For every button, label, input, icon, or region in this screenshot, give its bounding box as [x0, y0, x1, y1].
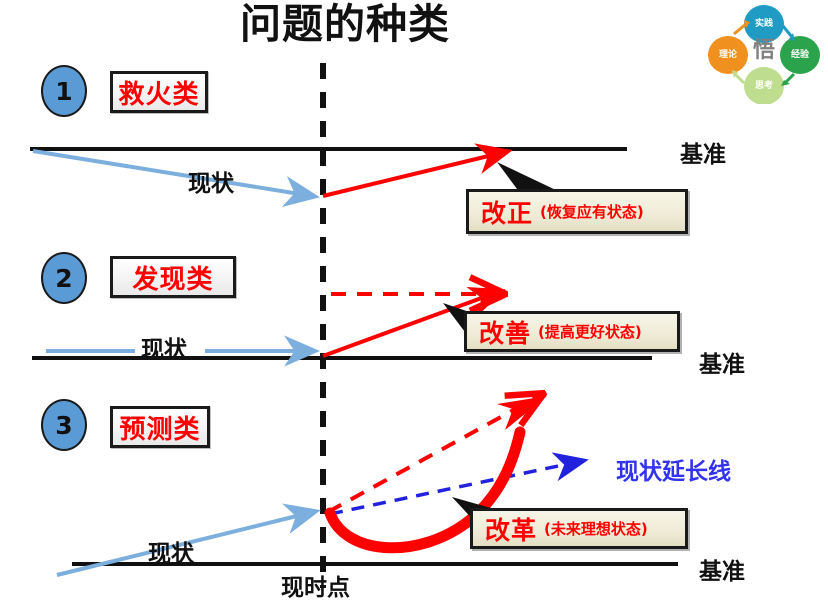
page-title: 问题的种类 — [195, 2, 495, 47]
callout-box-1[interactable]: 改正 (恢复应有状态) — [466, 189, 688, 234]
section1-current-state-label: 现状 — [188, 164, 234, 198]
logo-arc-arrow-top-left — [734, 24, 746, 34]
callout-box-2[interactable]: 改善 (提高更好状态) — [464, 311, 680, 352]
logo-node-right-label: 经验 — [783, 51, 817, 60]
diagram-canvas: 问题的种类 实践 经验 思考 理论 悟 1 救火类 现状 基准 改正 (恢复应有… — [0, 0, 828, 590]
callout-3-subtitle: (未来理想状态) — [544, 518, 648, 539]
callout-1-subtitle: (恢复应有状态) — [540, 201, 644, 222]
logo-node-top-label: 实践 — [747, 20, 781, 29]
section-number-1: 1 — [41, 65, 87, 117]
section-number-3: 3 — [41, 399, 87, 451]
callout-1-title: 改正 — [481, 194, 533, 230]
section3-baseline-label: 基准 — [699, 552, 745, 586]
section1-baseline-label: 基准 — [680, 135, 726, 169]
brand-logo: 实践 经验 思考 理论 悟 — [706, 4, 822, 104]
section3-extension-dashed-arrow — [330, 461, 582, 514]
category-box-2[interactable]: 发现类 — [110, 256, 236, 298]
callout-3-title: 改革 — [485, 511, 537, 547]
section3-ideal-dashed-arrow — [328, 396, 539, 512]
callout-box-3[interactable]: 改革 (未来理想状态) — [470, 508, 688, 549]
callout-2-title: 改善 — [479, 314, 531, 350]
section-number-2: 2 — [41, 252, 87, 304]
logo-arc-arrow-top-right — [783, 26, 792, 37]
logo-arc-arrow-bottom-left — [735, 74, 744, 83]
section3-current-state-label: 现状 — [148, 534, 194, 568]
logo-node-left-label: 理论 — [711, 51, 745, 60]
section2-baseline-label: 基准 — [699, 345, 745, 379]
category-box-1[interactable]: 救火类 — [110, 71, 208, 113]
section2-current-state-label: 现状 — [141, 330, 187, 364]
section1-current-state-line — [33, 151, 312, 196]
callout-2-subtitle: (提高更好状态) — [538, 321, 642, 342]
logo-center-label: 悟 — [747, 40, 781, 62]
now-point-label: 现时点 — [281, 568, 350, 602]
section3-reform-arrowhead — [497, 396, 547, 430]
logo-node-bottom-label: 思考 — [747, 82, 781, 91]
section3-extension-label: 现状延长线 — [616, 452, 731, 486]
category-box-3[interactable]: 预测类 — [110, 406, 210, 448]
